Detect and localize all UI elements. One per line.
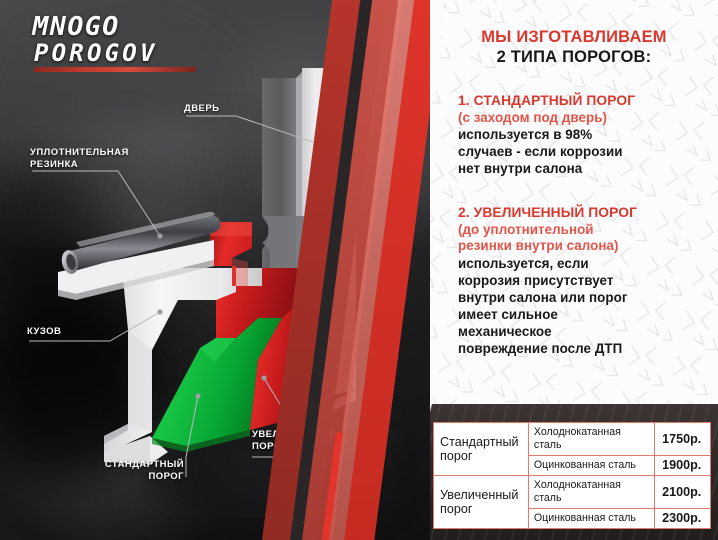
block-2-subtitle-line-1: (до уплотнительной xyxy=(458,222,710,239)
block-2-body-line-2: коррозия присутствует xyxy=(458,272,710,289)
sill-type-block-standard: 1. СТАНДАРТНЫЙ ПОРОГ (с заходом под двер… xyxy=(458,93,710,177)
callout-seal: УПЛОТНИТЕЛЬНАЯ РЕЗИНКА xyxy=(30,147,160,171)
block-1-body-line-1: используется в 98% xyxy=(458,126,710,143)
price-value-4: 2300р. xyxy=(655,509,711,529)
block-2-title: 2. УВЕЛИЧЕННЫЙ ПОРОГ xyxy=(458,205,710,222)
price-material-1: Холоднокатанная сталь xyxy=(528,423,654,456)
sill-type-block-extended: 2. УВЕЛИЧЕННЫЙ ПОРОГ (до уплотнительной … xyxy=(458,205,710,357)
table-row: Увеличенный порог Холоднокатанная сталь … xyxy=(434,476,711,509)
heading-line-1: МЫ ИЗГОТАВЛИВАЕМ xyxy=(430,28,718,47)
logo-line-1: MNOGO xyxy=(32,14,203,41)
price-material-3: Холоднокатанная сталь xyxy=(528,476,654,509)
block-2-subtitle-line-2: резинки внутри салона) xyxy=(458,238,710,255)
price-value-2: 1900р. xyxy=(655,456,711,476)
price-type-extended: Увеличенный порог xyxy=(434,476,529,529)
block-1-title: 1. СТАНДАРТНЫЙ ПОРОГ xyxy=(458,93,710,110)
info-panel-content: МЫ ИЗГОТАВЛИВАЕМ 2 ТИПА ПОРОГОВ: 1. СТАН… xyxy=(430,0,718,540)
price-type-standard: Стандартный порог xyxy=(434,423,529,476)
callout-seal-label-1: УПЛОТНИТЕЛЬНАЯ xyxy=(30,147,160,159)
logo-underline-bar xyxy=(33,67,197,72)
block-2-body-line-6: повреждение после ДТП xyxy=(458,340,710,357)
callout-standard-label-2: ПОРОГ xyxy=(88,471,184,483)
price-material-4: Оцинкованная сталь xyxy=(528,509,654,529)
price-value-1: 1750р. xyxy=(655,423,711,456)
callout-body-label: КУЗОВ xyxy=(27,326,61,338)
brand-logo: MNOGO POROGOV xyxy=(34,14,202,72)
table-row: Стандартный порог Холоднокатанная сталь … xyxy=(434,423,711,456)
callout-standard-sill: СТАНДАРТНЫЙ ПОРОГ xyxy=(88,459,184,483)
heading-line-2: 2 ТИПА ПОРОГОВ: xyxy=(430,48,718,67)
block-2-body-line-4: имеет сильное xyxy=(458,306,710,323)
price-material-2: Оцинкованная сталь xyxy=(528,456,654,476)
logo-line-2: POROGOV xyxy=(34,41,202,66)
callout-standard-label-1: СТАНДАРТНЫЙ xyxy=(88,459,184,471)
poster-canvas: ДВЕРЬ УПЛОТНИТЕЛЬНАЯ РЕЗИНКА КУЗОВ СТАНД… xyxy=(0,0,718,540)
block-1-body-line-3: нет внутри салона xyxy=(458,160,710,177)
price-table: Стандартный порог Холоднокатанная сталь … xyxy=(433,422,711,529)
panel-heading: МЫ ИЗГОТАВЛИВАЕМ 2 ТИПА ПОРОГОВ: xyxy=(430,28,718,67)
callout-door-label: ДВЕРЬ xyxy=(184,103,219,115)
block-2-body-line-5: механическое xyxy=(458,323,710,340)
block-1-subtitle: (с заходом под дверь) xyxy=(458,110,710,127)
price-value-3: 2100р. xyxy=(655,476,711,509)
callout-body: КУЗОВ xyxy=(27,326,61,338)
callout-door: ДВЕРЬ xyxy=(184,103,219,115)
callout-seal-label-2: РЕЗИНКА xyxy=(30,159,160,171)
info-panel: МЫ ИЗГОТАВЛИВАЕМ 2 ТИПА ПОРОГОВ: 1. СТАН… xyxy=(430,0,718,540)
block-2-body-line-1: используется, если xyxy=(458,255,710,272)
block-2-body-line-3: внутри салона или порог xyxy=(458,289,710,306)
block-1-body-line-2: случаев - если коррозии xyxy=(458,143,710,160)
